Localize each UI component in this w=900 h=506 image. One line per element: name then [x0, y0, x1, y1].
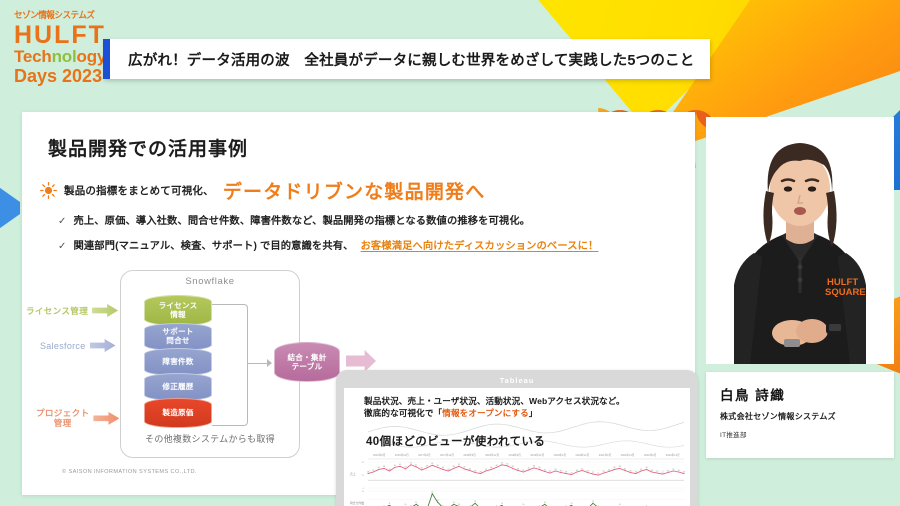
svg-text:34: 34 [517, 468, 519, 470]
svg-text:2022年12月: 2022年12月 [666, 453, 680, 457]
svg-text:25: 25 [362, 475, 365, 477]
svg-text:34: 34 [624, 468, 626, 470]
svg-text:2016年6月: 2016年6月 [373, 453, 386, 457]
cylinder-label-line1: 製造原価 [162, 409, 193, 418]
svg-text:11: 11 [501, 503, 503, 505]
svg-text:36: 36 [645, 467, 647, 469]
svg-text:2021年6月: 2021年6月 [599, 453, 612, 457]
svg-text:36: 36 [490, 467, 492, 469]
svg-text:42: 42 [399, 464, 401, 466]
svg-text:27: 27 [662, 472, 664, 474]
svg-text:38: 38 [453, 466, 455, 468]
svg-text:25: 25 [362, 491, 365, 493]
svg-text:33: 33 [554, 469, 556, 471]
arrow-right-green-icon [92, 304, 118, 317]
svg-text:36: 36 [378, 467, 380, 469]
svg-text:28: 28 [479, 471, 481, 473]
svg-text:0: 0 [363, 488, 365, 490]
svg-text:29: 29 [549, 471, 551, 473]
slide-heading: 製品開発での活用事例 [48, 134, 248, 161]
tableau-screen: 2016年6月2016年12月2017年6月2017年12月2018年6月201… [344, 388, 690, 506]
svg-text:41: 41 [415, 465, 417, 467]
svg-text:13: 13 [592, 501, 594, 503]
svg-text:33: 33 [672, 469, 674, 471]
bullet-emphasis-text: データドリブンな製品開発へ [223, 177, 486, 204]
svg-text:30: 30 [629, 470, 631, 472]
svg-text:40: 40 [437, 465, 439, 467]
svg-text:13: 13 [474, 501, 476, 503]
svg-text:30: 30 [474, 470, 476, 472]
svg-text:35: 35 [528, 468, 530, 470]
svg-text:37: 37 [463, 467, 465, 469]
svg-text:40: 40 [394, 465, 396, 467]
presenter-name: 白鳥 詩織 [720, 384, 894, 404]
svg-text:2022年6月: 2022年6月 [644, 453, 657, 457]
bullet-lead-text: 製品の指標をまとめて可視化、 [64, 183, 214, 198]
diagram-footer-note: その他複数システムからも取得 [120, 432, 300, 445]
session-title-text: 広がれ！データ活用の波 全社員がデータに親しむ世界をめざして実践した5つのこと [128, 49, 694, 70]
presenter-company: 株式会社セゾン情報システムズ [720, 411, 894, 422]
svg-text:2019年12月: 2019年12月 [530, 453, 544, 457]
svg-text:28: 28 [565, 471, 567, 473]
svg-text:2017年6月: 2017年6月 [418, 453, 431, 457]
svg-text:39: 39 [426, 466, 428, 468]
svg-text:30: 30 [587, 470, 589, 472]
tableau-overlay-text-1: 製品状況、売上・ユーザ状況、活動状況、Webアクセス状況など。 徹底的な可視化で… [364, 395, 682, 420]
svg-text:33: 33 [388, 469, 390, 471]
tableau-overlay-line2-pre: 徹底的な可視化で「 [364, 408, 442, 418]
svg-text:28: 28 [367, 471, 369, 473]
svg-text:30: 30 [560, 470, 562, 472]
svg-text:2016年12月: 2016年12月 [395, 453, 409, 457]
svg-text:32: 32 [608, 469, 610, 471]
cylinder-label-line2: 問合せ [166, 337, 189, 346]
svg-text:31: 31 [372, 470, 374, 472]
svg-text:38: 38 [619, 466, 621, 468]
source-label-line2: 管理 [54, 418, 72, 428]
svg-text:42: 42 [458, 464, 460, 466]
svg-text:2017年12月: 2017年12月 [440, 453, 454, 457]
svg-text:28: 28 [635, 471, 637, 473]
cylinder-label-line1: 障害件数 [162, 358, 193, 367]
output-arrow-icon [346, 350, 376, 372]
svg-text:45: 45 [501, 463, 503, 465]
svg-text:22: 22 [431, 492, 433, 494]
logo-days-year: Days 2023 [14, 67, 112, 87]
slide-stage: セゾン情報システムズ HULFT Technology Days 2023 広が… [0, 0, 900, 506]
svg-text:2018年6月: 2018年6月 [463, 453, 476, 457]
arrow-right-orange-icon [93, 412, 119, 425]
presentation-slide: 製品開発での活用事例 製品の指標をまとめて可視化、 データドリブンな製品開発へ [22, 112, 695, 495]
source-label-text: Salesforce [40, 341, 86, 351]
cylinder-aggregate-table: 結合・集計 テーブル [274, 342, 340, 382]
svg-text:36: 36 [613, 467, 615, 469]
check-mark-icon: ✓ [58, 216, 66, 227]
svg-text:2019年6月: 2019年6月 [509, 453, 522, 457]
svg-text:29: 29 [656, 471, 658, 473]
svg-text:25: 25 [597, 473, 599, 475]
svg-text:31: 31 [576, 470, 578, 472]
data-flow-diagram: Snowflake ライセンス 情報 サポート 問合せ 障害件数 修正履歴 製造… [22, 262, 322, 477]
svg-text:39: 39 [533, 466, 535, 468]
logo-tech-part1: Tech [14, 47, 52, 66]
title-accent-bar [103, 39, 110, 79]
svg-text:33: 33 [485, 469, 487, 471]
svg-text:12: 12 [415, 502, 417, 504]
svg-text:38: 38 [512, 466, 514, 468]
tableau-overlay-line2: 徹底的な可視化で「情報をオープンにする」 [364, 407, 682, 419]
svg-text:34: 34 [469, 468, 471, 470]
logo-tech-part3: ogy [77, 47, 107, 66]
title-box: 広がれ！データ活用の波 全社員がデータに親しむ世界をめざして実践した5つのこと [110, 39, 710, 79]
svg-text:12: 12 [544, 502, 546, 504]
tableau-overlay-line1: 製品状況、売上・ユーザ状況、活動状況、Webアクセス状況など。 [364, 395, 682, 407]
check-row-2-highlight: お客様満足へ向けたディスカッションのベースに！ [361, 237, 599, 252]
cylinder-support-inquiry: サポート 問合せ [144, 323, 212, 351]
source-label-text: プロジェクト管理 [36, 408, 89, 429]
cylinder-fix-history: 修正履歴 [144, 373, 212, 401]
svg-text:11: 11 [571, 503, 573, 505]
cylinder-label-line2: 情報 [170, 311, 186, 320]
source-license-management: ライセンス管理 [26, 304, 118, 317]
aggregate-label-line2: テーブル [292, 362, 323, 371]
svg-text:31: 31 [651, 470, 653, 472]
svg-text:2018年12月: 2018年12月 [485, 453, 499, 457]
svg-text:28: 28 [683, 471, 685, 473]
presenter-video: HULFT SQUARE [706, 117, 894, 364]
svg-text:27: 27 [592, 472, 594, 474]
cylinder-label-line1: 修正履歴 [162, 383, 193, 392]
tableau-device-label: Tableau [344, 376, 690, 385]
svg-text:40: 40 [495, 465, 497, 467]
svg-text:12: 12 [453, 502, 455, 504]
svg-text:14: 14 [437, 500, 439, 502]
svg-text:36: 36 [442, 467, 444, 469]
source-label-line1: プロジェクト [36, 408, 89, 418]
arrow-right-blue-icon [90, 339, 116, 352]
slide-main-bullet: 製品の指標をまとめて可視化、 データドリブンな製品開発へ [40, 177, 485, 204]
cylinder-manufacturing-cost: 製造原価 [144, 398, 212, 428]
check-row-2-text: 関連部門(マニュアル、検査、サポート) で目的意識を共有、 [73, 237, 353, 252]
svg-text:38: 38 [383, 466, 385, 468]
tableau-device-frame: Tableau 2016年6月2016年12月2017年6月2017年12月20… [336, 370, 698, 506]
svg-text:35: 35 [421, 468, 423, 470]
tableau-overlay-big-text: 40個ほどのビューが使われている [366, 433, 545, 449]
logo-hulft-wordmark: HULFT [14, 22, 112, 48]
svg-text:2020年12月: 2020年12月 [576, 453, 590, 457]
svg-text:37: 37 [404, 467, 406, 469]
copyright-notice: © SAISON INFORMATION SYSTEMS CO.,LTD. [62, 469, 197, 475]
join-arrow-icon [267, 359, 272, 367]
shirt-logo-line2: SQUARE [825, 287, 866, 298]
logo-tech-part2: nol [52, 47, 77, 66]
svg-text:30: 30 [667, 470, 669, 472]
event-logo: セゾン情報システムズ HULFT Technology Days 2023 [14, 8, 112, 87]
logo-technology-wordmark: Technology [14, 48, 112, 66]
tableau-overlay-line2-post: 」 [529, 408, 538, 418]
presenter-department: IT推進部 [720, 429, 894, 439]
check-row-1-text: 売上、原価、導入社数、問合せ件数、障害件数など、製品開発の指標となる数値の推移を… [73, 212, 530, 227]
sun-icon [40, 182, 57, 199]
svg-text:31: 31 [678, 470, 680, 472]
join-brace [212, 304, 248, 426]
svg-text:36: 36 [538, 467, 540, 469]
svg-text:31: 31 [522, 470, 524, 472]
svg-text:26: 26 [570, 472, 572, 474]
snowflake-label: Snowflake [120, 276, 300, 287]
tableau-overlay-line2-highlight: 情報をオープンにする [442, 408, 529, 418]
session-title-bar: 広がれ！データ活用の波 全社員がデータに親しむ世界をめざして実践した5つのこと [103, 39, 710, 79]
svg-text:50: 50 [362, 462, 365, 464]
cylinder-license-info: ライセンス 情報 [144, 295, 212, 326]
check-mark-icon: ✓ [58, 241, 66, 252]
svg-text:44: 44 [431, 463, 433, 465]
blue-left-accent-shape [0, 178, 20, 238]
presenter-nameplate: 白鳥 詩織 株式会社セゾン情報システムズ IT推進部 [706, 372, 894, 458]
svg-text:11: 11 [388, 503, 390, 505]
logo-company-kana: セゾン情報システムズ [14, 8, 107, 21]
svg-text:32: 32 [544, 469, 546, 471]
svg-text:43: 43 [506, 464, 508, 466]
cylinder-incident-count: 障害件数 [144, 348, 212, 376]
check-row-1: ✓ 売上、原価、導入社数、問合せ件数、障害件数など、製品開発の指標となる数値の推… [58, 212, 530, 227]
svg-text:2020年6月: 2020年6月 [554, 453, 567, 457]
svg-text:29: 29 [603, 471, 605, 473]
source-project-management: プロジェクト管理 [36, 408, 119, 429]
source-salesforce: Salesforce [40, 339, 116, 352]
svg-text:33: 33 [640, 469, 642, 471]
presenter-portrait: HULFT SQUARE [706, 117, 894, 364]
table-cylinder-stack: ライセンス 情報 サポート 問合せ 障害件数 修正履歴 製造原価 [144, 295, 212, 428]
aggregate-label-line1: 結合・集計 [288, 353, 327, 362]
check-row-2: ✓ 関連部門(マニュアル、検査、サポート) で目的意識を共有、お客様満足へ向けた… [58, 237, 598, 252]
svg-text:34: 34 [581, 468, 583, 470]
svg-text:33: 33 [447, 469, 449, 471]
svg-text:45: 45 [410, 463, 412, 465]
svg-text:売上: 売上 [350, 472, 356, 476]
source-label-text: ライセンス管理 [26, 305, 88, 317]
svg-text:2021年12月: 2021年12月 [621, 453, 635, 457]
